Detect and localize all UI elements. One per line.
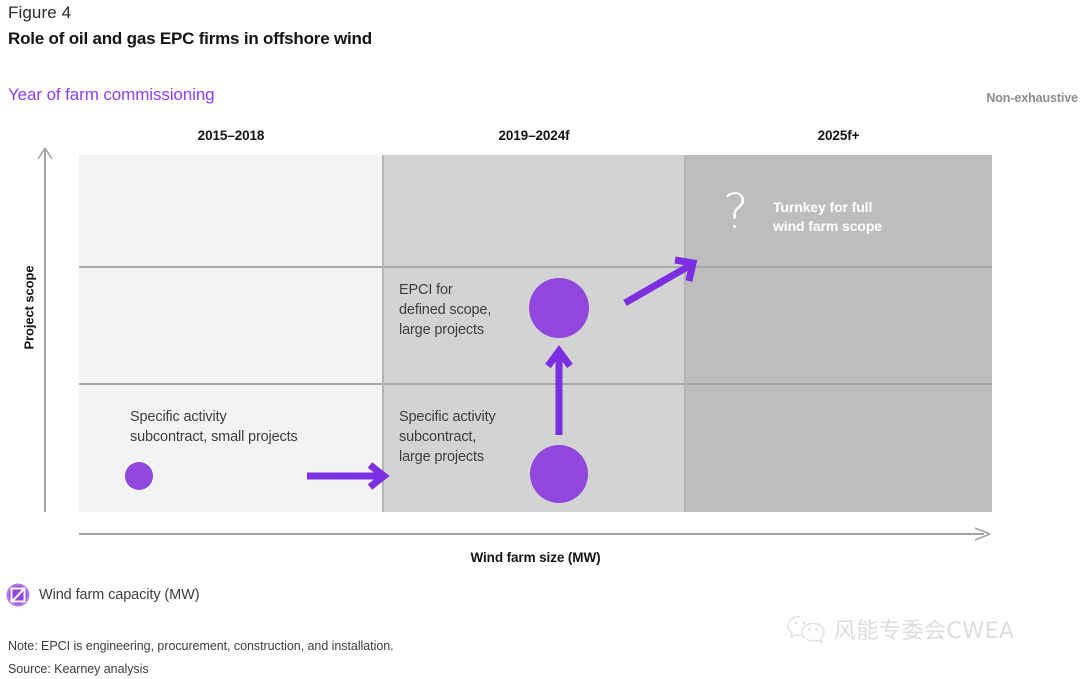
row-divider-lower — [79, 383, 992, 385]
page-title: Role of oil and gas EPC firms in offshor… — [8, 29, 372, 49]
cell-label-specific-activity-large: Specific activity subcontract, large pro… — [399, 407, 496, 467]
grid-column-2015-2018 — [79, 155, 383, 512]
wechat-icon — [786, 612, 826, 646]
wind-farm-capacity-marker-icon — [6, 583, 30, 607]
x-axis-label: Wind farm size (MW) — [79, 550, 992, 565]
y-axis-label: Project scope — [22, 253, 37, 363]
bubble-wind-farm-capacity-medium — [530, 445, 588, 503]
figure-label: Figure 4 — [8, 3, 71, 23]
cell-label-specific-activity-small: Specific activity subcontract, small pro… — [130, 407, 298, 447]
legend: Wind farm capacity (MW) — [6, 583, 199, 607]
source-text: Source: Kearney analysis — [8, 662, 149, 676]
bubble-wind-farm-capacity-large — [529, 278, 589, 338]
column-divider-right — [684, 155, 686, 512]
bubble-wind-farm-capacity-small — [125, 462, 153, 490]
cell-label-turnkey-full-scope: Turnkey for full wind farm scope — [773, 198, 882, 236]
y-axis-arrow-icon — [37, 148, 53, 160]
column-header-2015-2018: 2015–2018 — [79, 128, 383, 143]
column-header-2019-2024f: 2019–2024f — [383, 128, 685, 143]
watermark: 风能专委会CWEA — [786, 612, 1015, 646]
chart-plot-area: ? Turnkey for full wind farm scope EPCI … — [79, 155, 992, 512]
question-mark-icon: ? — [723, 188, 748, 236]
y-axis-line — [44, 150, 46, 512]
column-header-2025f-plus: 2025f+ — [685, 128, 992, 143]
column-divider-left — [382, 155, 384, 512]
watermark-text: 风能专委会CWEA — [834, 613, 1015, 645]
cell-label-epci-defined-scope: EPCI for defined scope, large projects — [399, 280, 491, 340]
row-divider-upper — [79, 266, 992, 268]
x-axis-arrow-icon — [975, 527, 991, 541]
non-exhaustive-badge: Non-exhaustive — [986, 91, 1078, 105]
note-text: Note: EPCI is engineering, procurement, … — [8, 639, 394, 653]
year-of-commissioning-label: Year of farm commissioning — [8, 85, 215, 105]
legend-label: Wind farm capacity (MW) — [39, 587, 199, 603]
x-axis-line — [79, 533, 984, 535]
